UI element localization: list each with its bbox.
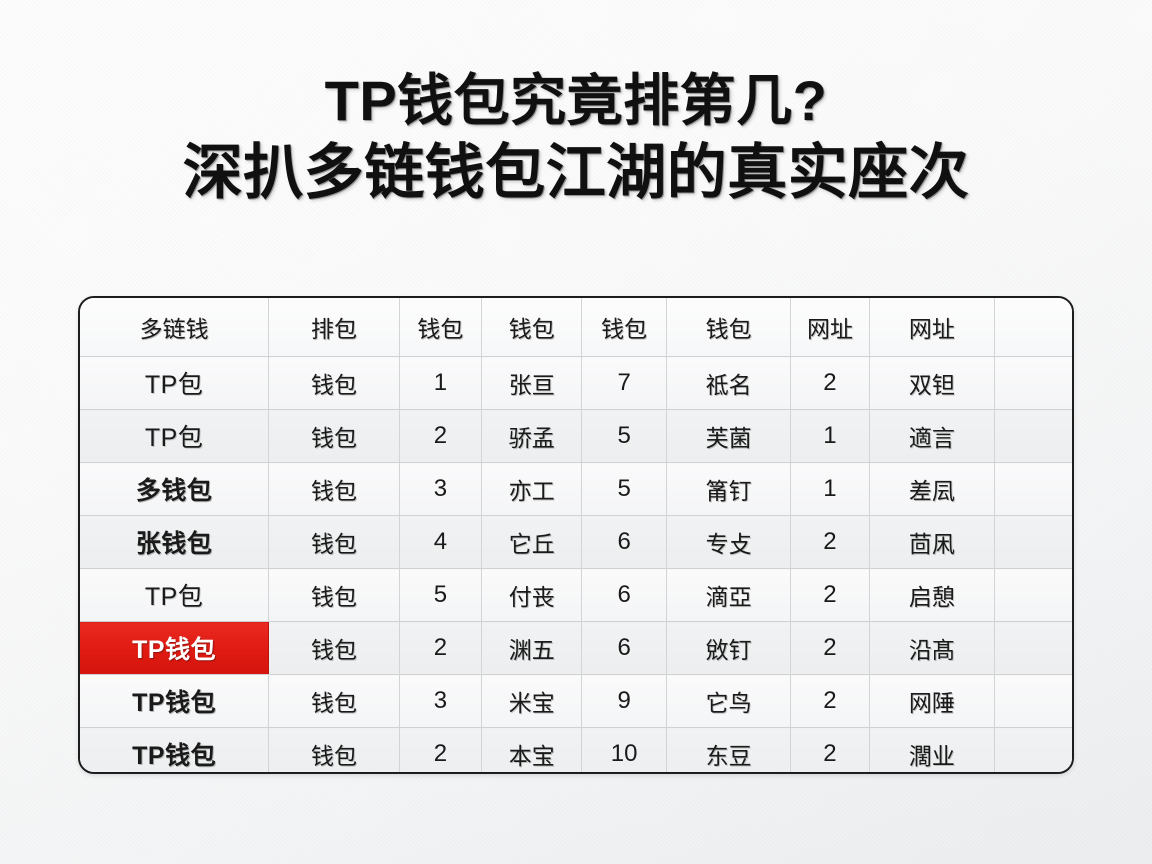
column-header-4: 钱包 bbox=[482, 298, 582, 357]
cell-r2-c2: 钱包 bbox=[269, 410, 400, 463]
cell-r3-c2: 钱包 bbox=[269, 463, 400, 516]
cell-r8-c5: 10 bbox=[582, 728, 666, 775]
column-header-9 bbox=[995, 298, 1072, 357]
table-row[interactable]: TP包钱包2骄孟5芙菌1適言 bbox=[80, 410, 1072, 463]
poster-canvas: TP钱包究竟排第几? 深扒多链钱包江湖的真实座次 多链钱 排包 钱包 钱包 钱包… bbox=[0, 0, 1152, 864]
cell-r5-c9 bbox=[995, 569, 1072, 622]
cell-r5-c8: 启憩 bbox=[869, 569, 995, 622]
cell-r3-c7: 1 bbox=[791, 463, 869, 516]
cell-r1-c8: 双钽 bbox=[869, 357, 995, 410]
headline-line-1: TP钱包究竟排第几? bbox=[0, 68, 1152, 134]
cell-r2-c5: 5 bbox=[582, 410, 666, 463]
cell-r7-c2: 钱包 bbox=[269, 675, 400, 728]
cell-r8-c3: 2 bbox=[399, 728, 481, 775]
cell-r4-c5: 6 bbox=[582, 516, 666, 569]
cell-r7-c4: 米宝 bbox=[482, 675, 582, 728]
wallet-name[interactable]: TP包 bbox=[80, 569, 269, 622]
column-header-7: 网址 bbox=[791, 298, 869, 357]
cell-r1-c3: 1 bbox=[399, 357, 481, 410]
cell-r8-c9 bbox=[995, 728, 1072, 775]
cell-r7-c9 bbox=[995, 675, 1072, 728]
cell-r7-c8: 网陲 bbox=[869, 675, 995, 728]
wallet-name-highlighted[interactable]: TP钱包 bbox=[80, 622, 269, 675]
cell-r6-c7: 2 bbox=[791, 622, 869, 675]
cell-r5-c6: 滴亞 bbox=[666, 569, 791, 622]
cell-r6-c2: 钱包 bbox=[269, 622, 400, 675]
cell-r6-c8: 沿髙 bbox=[869, 622, 995, 675]
wallet-name[interactable]: 多钱包 bbox=[80, 463, 269, 516]
column-header-6: 钱包 bbox=[666, 298, 791, 357]
header-row: 多链钱 排包 钱包 钱包 钱包 钱包 网址 网址 bbox=[80, 298, 1072, 357]
cell-r1-c7: 2 bbox=[791, 357, 869, 410]
wallet-name[interactable]: TP包 bbox=[80, 410, 269, 463]
ranking-table: 多链钱 排包 钱包 钱包 钱包 钱包 网址 网址 TP包钱包1张亘7祗名2双钽T… bbox=[80, 298, 1072, 774]
cell-r8-c8: 濶业 bbox=[869, 728, 995, 775]
column-header-1: 多链钱 bbox=[80, 298, 269, 357]
column-header-3: 钱包 bbox=[399, 298, 481, 357]
table-row[interactable]: TP包钱包5付丧6滴亞2启憩 bbox=[80, 569, 1072, 622]
table-row[interactable]: TP钱包钱包2本宝10东豆2濶业 bbox=[80, 728, 1072, 775]
cell-r8-c2: 钱包 bbox=[269, 728, 400, 775]
cell-r2-c9 bbox=[995, 410, 1072, 463]
cell-r3-c4: 亦工 bbox=[482, 463, 582, 516]
cell-r6-c4: 渊五 bbox=[482, 622, 582, 675]
cell-r8-c4: 本宝 bbox=[482, 728, 582, 775]
page-title: TP钱包究竟排第几? 深扒多链钱包江湖的真实座次 bbox=[0, 68, 1152, 210]
wallet-name[interactable]: 张钱包 bbox=[80, 516, 269, 569]
cell-r6-c6: 敓钉 bbox=[666, 622, 791, 675]
cell-r2-c3: 2 bbox=[399, 410, 481, 463]
cell-r8-c6: 东豆 bbox=[666, 728, 791, 775]
cell-r3-c5: 5 bbox=[582, 463, 666, 516]
cell-r4-c9 bbox=[995, 516, 1072, 569]
cell-r2-c4: 骄孟 bbox=[482, 410, 582, 463]
table-row[interactable]: TP钱包钱包2渊五6敓钉2沿髙 bbox=[80, 622, 1072, 675]
cell-r1-c5: 7 bbox=[582, 357, 666, 410]
cell-r8-c7: 2 bbox=[791, 728, 869, 775]
cell-r5-c3: 5 bbox=[399, 569, 481, 622]
wallet-name[interactable]: TP钱包 bbox=[80, 728, 269, 775]
column-header-2: 排包 bbox=[269, 298, 400, 357]
table-body: TP包钱包1张亘7祗名2双钽TP包钱包2骄孟5芙菌1適言多钱包钱包3亦工5筩钉1… bbox=[80, 357, 1072, 775]
cell-r4-c3: 4 bbox=[399, 516, 481, 569]
cell-r5-c4: 付丧 bbox=[482, 569, 582, 622]
cell-r5-c7: 2 bbox=[791, 569, 869, 622]
wallet-name[interactable]: TP钱包 bbox=[80, 675, 269, 728]
cell-r1-c2: 钱包 bbox=[269, 357, 400, 410]
column-header-5: 钱包 bbox=[582, 298, 666, 357]
cell-r2-c6: 芙菌 bbox=[666, 410, 791, 463]
cell-r4-c4: 它丘 bbox=[482, 516, 582, 569]
cell-r4-c6: 专攴 bbox=[666, 516, 791, 569]
table-header: 多链钱 排包 钱包 钱包 钱包 钱包 网址 网址 bbox=[80, 298, 1072, 357]
table-row[interactable]: TP钱包钱包3米宝9它鸟2网陲 bbox=[80, 675, 1072, 728]
cell-r5-c2: 钱包 bbox=[269, 569, 400, 622]
cell-r2-c7: 1 bbox=[791, 410, 869, 463]
cell-r4-c8: 茴凩 bbox=[869, 516, 995, 569]
cell-r5-c5: 6 bbox=[582, 569, 666, 622]
table-row[interactable]: TP包钱包1张亘7祗名2双钽 bbox=[80, 357, 1072, 410]
cell-r7-c3: 3 bbox=[399, 675, 481, 728]
cell-r3-c6: 筩钉 bbox=[666, 463, 791, 516]
cell-r4-c2: 钱包 bbox=[269, 516, 400, 569]
table-row[interactable]: 多钱包钱包3亦工5筩钉1差凨 bbox=[80, 463, 1072, 516]
wallet-name[interactable]: TP包 bbox=[80, 357, 269, 410]
cell-r7-c5: 9 bbox=[582, 675, 666, 728]
column-header-8: 网址 bbox=[869, 298, 995, 357]
cell-r3-c8: 差凨 bbox=[869, 463, 995, 516]
cell-r6-c9 bbox=[995, 622, 1072, 675]
ranking-table-card: 多链钱 排包 钱包 钱包 钱包 钱包 网址 网址 TP包钱包1张亘7祗名2双钽T… bbox=[78, 296, 1074, 774]
cell-r2-c8: 適言 bbox=[869, 410, 995, 463]
cell-r1-c6: 祗名 bbox=[666, 357, 791, 410]
cell-r3-c9 bbox=[995, 463, 1072, 516]
cell-r6-c3: 2 bbox=[399, 622, 481, 675]
headline-line-2: 深扒多链钱包江湖的真实座次 bbox=[0, 136, 1152, 210]
table-row[interactable]: 张钱包钱包4它丘6专攴2茴凩 bbox=[80, 516, 1072, 569]
cell-r6-c5: 6 bbox=[582, 622, 666, 675]
cell-r7-c6: 它鸟 bbox=[666, 675, 791, 728]
cell-r1-c9 bbox=[995, 357, 1072, 410]
cell-r1-c4: 张亘 bbox=[482, 357, 582, 410]
cell-r3-c3: 3 bbox=[399, 463, 481, 516]
cell-r7-c7: 2 bbox=[791, 675, 869, 728]
cell-r4-c7: 2 bbox=[791, 516, 869, 569]
